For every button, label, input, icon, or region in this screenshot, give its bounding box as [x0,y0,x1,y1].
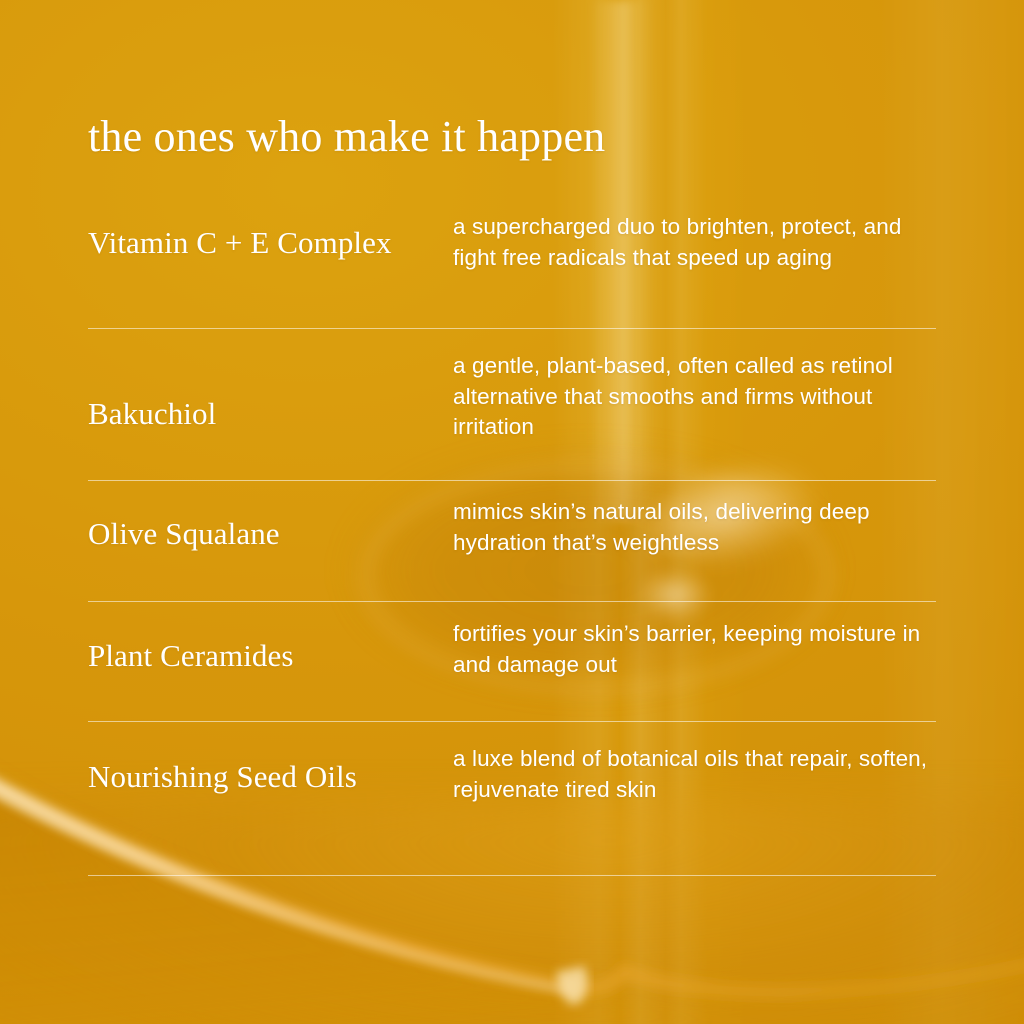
table-row: Olive Squalane mimics skin’s natural oil… [88,481,936,602]
table-row: Bakuchiol a gentle, plant-based, often c… [88,329,936,481]
ingredient-description: fortifies your skin’s barrier, keeping m… [453,619,936,680]
ingredient-benefits-graphic: the ones who make it happen Vitamin C + … [0,0,1024,1024]
table-row: Plant Ceramides fortifies your skin’s ba… [88,602,936,722]
ingredient-name: Olive Squalane [88,497,453,556]
table-row: Vitamin C + E Complex a supercharged duo… [88,200,936,329]
ingredient-name: Bakuchiol [88,351,453,436]
ingredient-description: a gentle, plant-based, often called as r… [453,351,936,443]
ingredient-name: Plant Ceramides [88,619,453,678]
ingredients-table: Vitamin C + E Complex a supercharged duo… [88,200,936,876]
ingredient-description: a supercharged duo to brighten, protect,… [453,212,936,273]
ingredient-description: mimics skin’s natural oils, delivering d… [453,497,936,558]
ingredient-name: Nourishing Seed Oils [88,744,453,799]
table-row: Nourishing Seed Oils a luxe blend of bot… [88,722,936,876]
ingredient-name: Vitamin C + E Complex [88,212,453,265]
page-title: the ones who make it happen [88,113,605,161]
ingredient-description: a luxe blend of botanical oils that repa… [453,744,936,805]
row-divider [88,875,936,876]
